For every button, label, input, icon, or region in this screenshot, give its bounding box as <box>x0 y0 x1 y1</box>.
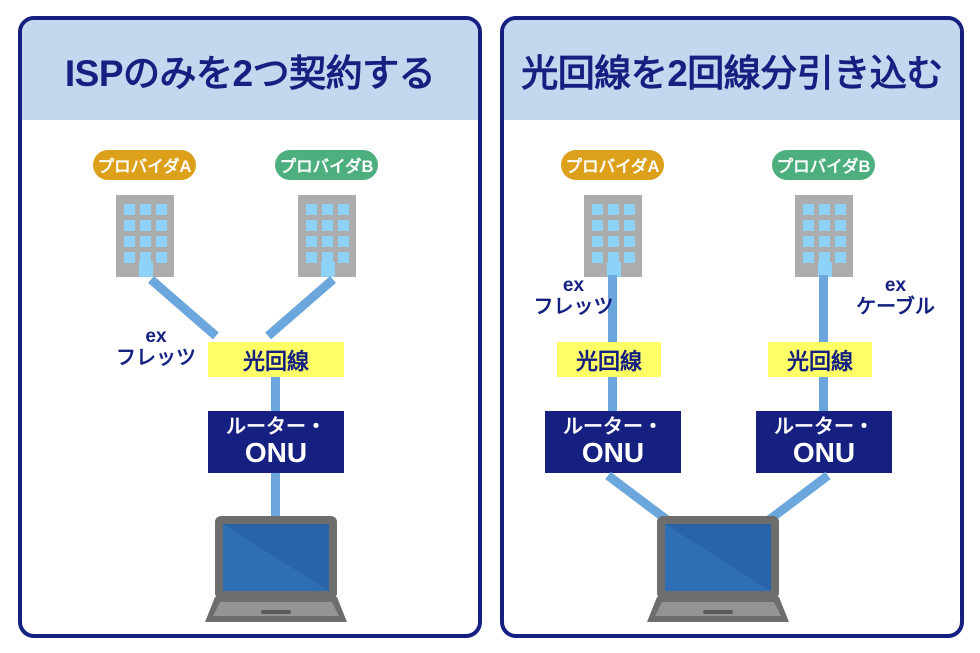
building-window <box>592 252 603 263</box>
provider-badge-b-right: プロバイダB <box>772 150 875 180</box>
fiber-line-label: 光回線 <box>243 344 309 376</box>
panel-body-left: プロバイダA プロバイダB <box>22 120 478 634</box>
router-onu-box-right-a: ルーター・ ONU <box>545 411 681 473</box>
building-window <box>124 252 135 263</box>
building-window <box>124 204 135 215</box>
building-window <box>140 204 151 215</box>
cable-fiber-to-router-right-b <box>819 377 828 413</box>
ex-label-cable-right: ex ケーブル <box>843 275 948 319</box>
provider-badge-b-left-label: プロバイダB <box>280 153 374 177</box>
cable-provider-b-to-fiber-left <box>265 276 336 339</box>
cable-fiber-to-router-right-a <box>608 377 617 413</box>
ex-label-flets-left: ex フレッツ <box>110 326 202 370</box>
laptop-screen <box>223 524 329 591</box>
building-window <box>338 236 349 247</box>
router-onu-line1: ルーター・ <box>563 417 663 437</box>
building-window <box>322 204 333 215</box>
building-icon-provider-b-left <box>298 195 356 277</box>
building-icon-provider-a-left <box>116 195 174 277</box>
laptop-trackpad <box>703 610 733 614</box>
cable-fiber-to-router-left <box>271 377 280 413</box>
building-window <box>835 252 846 263</box>
building-door <box>321 262 335 277</box>
laptop-trackpad <box>261 610 291 614</box>
building-window <box>140 236 151 247</box>
building-window <box>835 236 846 247</box>
building-window <box>624 252 635 263</box>
building-icon-provider-a-right <box>584 195 642 277</box>
building-window <box>624 220 635 231</box>
building-window <box>322 236 333 247</box>
building-window <box>803 204 814 215</box>
building-window <box>124 236 135 247</box>
provider-badge-a-left-label: プロバイダA <box>98 153 192 177</box>
ex-label-line2: ケーブル <box>843 296 948 318</box>
ex-label-flets-right: ex フレッツ <box>526 275 621 319</box>
panel-header-right: 光回線を2回線分引き込む <box>504 20 960 120</box>
building-window <box>140 220 151 231</box>
fiber-line-label: 光回線 <box>787 344 853 376</box>
panel-title-left: ISPのみを2つ契約する <box>65 43 435 97</box>
fiber-line-box-right-a: 光回線 <box>557 342 661 377</box>
building-window <box>306 204 317 215</box>
building-window <box>592 204 603 215</box>
building-icon-provider-b-right <box>795 195 853 277</box>
fiber-line-box-right-b: 光回線 <box>768 342 872 377</box>
fiber-line-label: 光回線 <box>576 344 642 376</box>
building-window <box>803 252 814 263</box>
provider-badge-b-right-label: プロバイダB <box>777 153 871 177</box>
building-window <box>124 220 135 231</box>
provider-badge-a-left: プロバイダA <box>93 150 196 180</box>
building-window <box>819 236 830 247</box>
building-window <box>608 236 619 247</box>
router-onu-box-right-b: ルーター・ ONU <box>756 411 892 473</box>
building-door <box>139 262 153 277</box>
fiber-line-box-left: 光回線 <box>208 342 344 377</box>
building-window <box>338 204 349 215</box>
panel-header-left: ISPのみを2つ契約する <box>22 20 478 120</box>
provider-badge-a-right-label: プロバイダA <box>566 153 660 177</box>
building-window <box>624 204 635 215</box>
panel-two-fiber-lines: 光回線を2回線分引き込む プロバイダA プロバイダB <box>500 16 964 638</box>
building-window <box>156 236 167 247</box>
building-window <box>835 204 846 215</box>
router-onu-line2: ONU <box>793 439 855 467</box>
building-window <box>608 204 619 215</box>
provider-badge-b-left: プロバイダB <box>275 150 378 180</box>
router-onu-line2: ONU <box>245 439 307 467</box>
building-window <box>322 220 333 231</box>
building-window <box>819 220 830 231</box>
router-onu-line2: ONU <box>582 439 644 467</box>
building-window <box>608 220 619 231</box>
building-window <box>156 204 167 215</box>
building-window <box>819 204 830 215</box>
laptop-icon-right <box>647 516 789 622</box>
router-onu-line1: ルーター・ <box>774 417 874 437</box>
ex-label-line2: フレッツ <box>526 296 621 318</box>
building-window <box>835 220 846 231</box>
building-window <box>624 236 635 247</box>
building-window <box>803 220 814 231</box>
panel-isp-only: ISPのみを2つ契約する プロバイダA プロバイダB <box>18 16 482 638</box>
ex-label-line1: ex <box>526 275 621 296</box>
router-onu-line1: ルーター・ <box>226 417 326 437</box>
cable-provider-b-to-fiber-right <box>819 275 828 343</box>
building-window <box>156 252 167 263</box>
provider-badge-a-right: プロバイダA <box>561 150 664 180</box>
building-window <box>592 236 603 247</box>
building-window <box>306 220 317 231</box>
panel-title-right: 光回線を2回線分引き込む <box>521 43 943 97</box>
diagram-canvas: ISPのみを2つ契約する プロバイダA プロバイダB <box>0 0 980 653</box>
building-window <box>592 220 603 231</box>
ex-label-line1: ex <box>110 326 202 347</box>
building-window <box>306 236 317 247</box>
router-onu-box-left: ルーター・ ONU <box>208 411 344 473</box>
building-window <box>338 220 349 231</box>
building-window <box>803 236 814 247</box>
panel-body-right: プロバイダA プロバイダB <box>504 120 960 634</box>
laptop-icon-left <box>205 516 347 622</box>
laptop-screen <box>665 524 771 591</box>
building-window <box>338 252 349 263</box>
building-window <box>306 252 317 263</box>
ex-label-line2: フレッツ <box>110 347 202 369</box>
building-window <box>156 220 167 231</box>
ex-label-line1: ex <box>843 275 948 296</box>
